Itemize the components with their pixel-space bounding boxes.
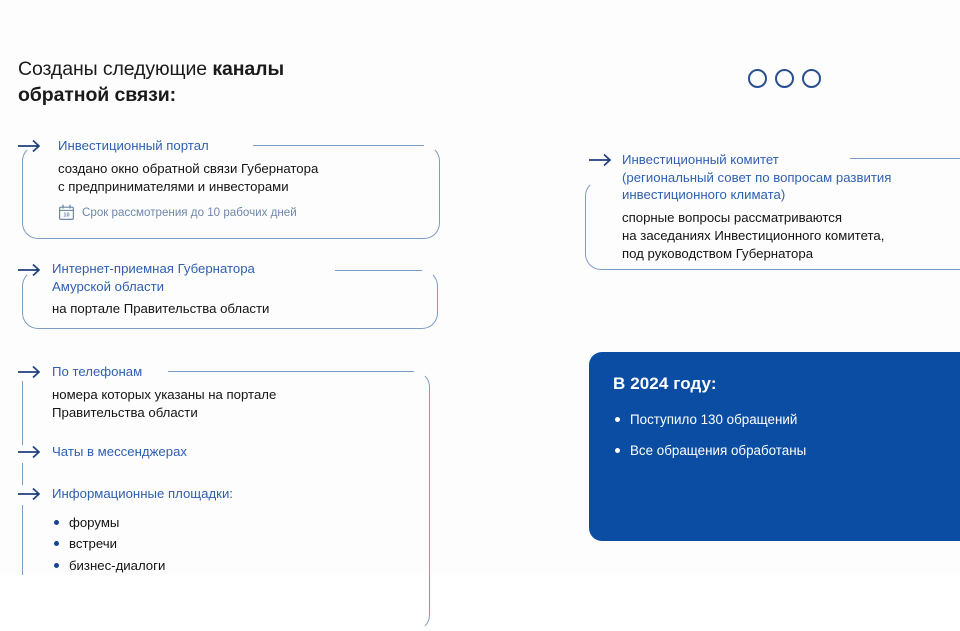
circle-icon-2 — [775, 69, 794, 88]
item-title-chats: Чаты в мессенджерах — [52, 443, 187, 461]
page-title: Созданы следующие каналы обратной связи: — [18, 57, 438, 108]
item-title-platforms: Информационные площадки: — [52, 485, 233, 503]
arrow-right-icon-portal — [17, 138, 43, 154]
page-title-accent-2: обратной связи: — [18, 84, 176, 106]
item-body-line: на заседаниях Инвестиционного комитета, — [622, 227, 884, 245]
item-title-line: Интернет-приемная Губернатора — [52, 260, 255, 278]
list-item: форумы — [52, 512, 165, 533]
item-body-line: с предпринимателями и инвесторами — [58, 178, 318, 196]
connector-line-platforms — [22, 505, 23, 575]
deadline-chip-text: Срок рассмотрения до 10 рабочих дней — [82, 207, 297, 219]
item-title-line: Амурской области — [52, 278, 255, 296]
item-title-line: (региональный совет по вопросам развития — [622, 169, 891, 187]
item-title-investment-committee: Инвестиционный комитет (региональный сов… — [622, 151, 891, 204]
arrow-right-icon-committee — [588, 152, 614, 168]
list-item: бизнес-диалоги — [52, 555, 165, 576]
slide-canvas: Созданы следующие каналы обратной связи:… — [0, 0, 960, 575]
item-body-line: номера которых указаны на портале — [52, 386, 276, 404]
arrow-right-icon-phones — [17, 364, 43, 380]
item-title-line: Инвестиционный комитет — [622, 151, 891, 169]
circle-icon-1 — [748, 69, 767, 88]
item-body-investment-committee: спорные вопросы рассматриваются на засед… — [622, 209, 884, 264]
arrow-right-icon-chats — [17, 444, 43, 460]
item-body-line: создано окно обратной связи Губернатора — [58, 160, 318, 178]
item-body-phones: номера которых указаны на портале Правит… — [52, 386, 276, 422]
card-other-channels-top-border — [168, 371, 414, 372]
item-body-line: спорные вопросы рассматриваются — [622, 209, 884, 227]
card-investment-portal-top-border — [253, 145, 424, 146]
stats-panel-title: В 2024 году: — [613, 374, 717, 394]
platforms-bullet-list: форумы встречи бизнес-диалоги — [52, 512, 165, 576]
item-title-internet-reception: Интернет-приемная Губернатора Амурской о… — [52, 260, 255, 295]
item-title-line: инвестиционного климата) — [622, 186, 891, 204]
list-item: Поступило 130 обращений — [613, 410, 806, 429]
three-circles-icon — [748, 69, 821, 88]
item-title-investment-portal: Инвестиционный портал — [58, 137, 209, 155]
item-title-phones: По телефонам — [52, 363, 142, 381]
deadline-chip: 10 Срок рассмотрения до 10 рабочих дней — [58, 204, 297, 221]
list-item: встречи — [52, 533, 165, 554]
list-item: Все обращения обработаны — [613, 441, 806, 460]
item-body-investment-portal: создано окно обратной связи Губернатора … — [58, 160, 318, 196]
item-body-internet-reception: на портале Правительства области — [52, 300, 269, 318]
connector-line-phones — [22, 381, 23, 445]
page-title-normal: Созданы следующие — [18, 58, 212, 80]
circle-icon-3 — [802, 69, 821, 88]
card-internet-reception-top-border — [335, 270, 422, 271]
item-body-line: под руководством Губернатора — [622, 245, 884, 263]
connector-line-chats — [22, 463, 23, 485]
stats-panel-2024: В 2024 году: Поступило 130 обращений Все… — [589, 352, 960, 541]
page-title-accent-1: каналы — [212, 58, 284, 80]
item-body-line: Правительства области — [52, 404, 276, 422]
calendar-icon-day: 10 — [63, 213, 69, 219]
item-body-line: на портале Правительства области — [52, 300, 269, 318]
arrow-right-icon-reception — [17, 262, 43, 278]
arrow-right-icon-platforms — [17, 486, 43, 502]
stats-panel-list: Поступило 130 обращений Все обращения об… — [613, 410, 806, 473]
calendar-icon: 10 — [58, 204, 75, 221]
